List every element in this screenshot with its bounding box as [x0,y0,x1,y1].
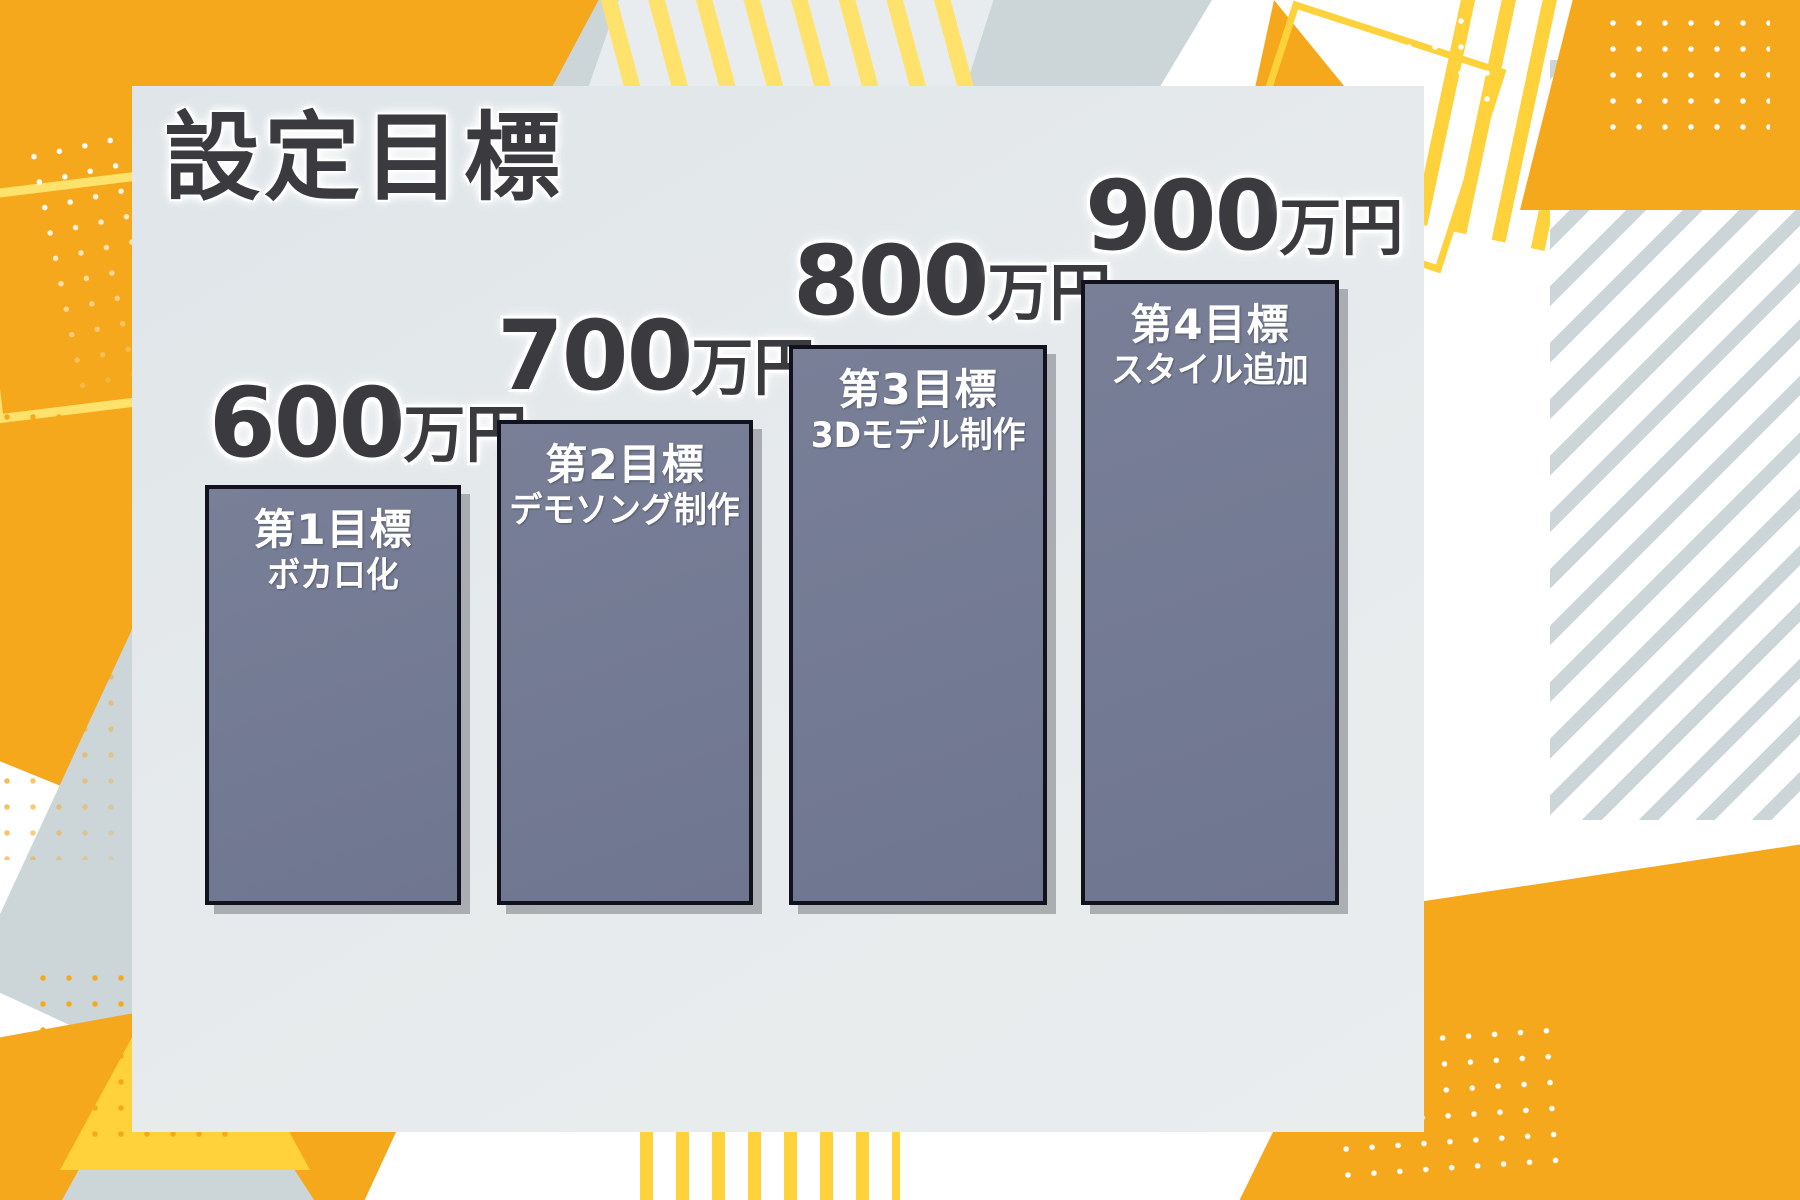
bar-goal-label-4: 第4目標 [1130,300,1289,350]
bar-goal-detail-4: スタイル追加 [1111,350,1308,392]
slide-canvas: 設定目標 600万円 第1目標 ボカロ化 700万円 第2目標 デモソング制作 [0,0,1800,1200]
bar-goal-label-1: 第1目標 [253,505,412,555]
bar-goal-label-2: 第2目標 [545,440,704,490]
bar-1[interactable]: 第1目標 ボカロ化 [205,485,461,905]
goal-bar-chart: 600万円 第1目標 ボカロ化 700万円 第2目標 デモソング制作 800万円… [0,0,1800,1200]
bar-goal-detail-1: ボカロ化 [267,555,399,597]
bar-goal-detail-2: デモソング制作 [510,490,740,532]
bar-group-4: 900万円 第4目標 スタイル追加 [1081,280,1339,905]
bar-amount-number-2: 700 [497,300,691,412]
bar-group-3: 800万円 第3目標 3Dモデル制作 [789,345,1047,905]
bar-amount-2: 700万円 [497,308,815,404]
bar-amount-3: 800万円 [793,233,1111,329]
bar-amount-4: 900万円 [1085,168,1403,264]
bar-amount-number-3: 800 [793,225,987,337]
bar-amount-number-4: 900 [1085,160,1279,272]
bar-2[interactable]: 第2目標 デモソング制作 [497,420,753,905]
bar-group-2: 700万円 第2目標 デモソング制作 [497,420,753,905]
bar-group-1: 600万円 第1目標 ボカロ化 [205,485,461,905]
bar-amount-1: 600万円 [209,375,527,471]
bar-3[interactable]: 第3目標 3Dモデル制作 [789,345,1047,905]
bar-4[interactable]: 第4目標 スタイル追加 [1081,280,1339,905]
bar-amount-number-1: 600 [209,367,403,479]
bar-goal-detail-3: 3Dモデル制作 [811,415,1026,457]
bar-amount-unit-4: 万円 [1279,191,1403,264]
bar-goal-label-3: 第3目標 [838,365,997,415]
